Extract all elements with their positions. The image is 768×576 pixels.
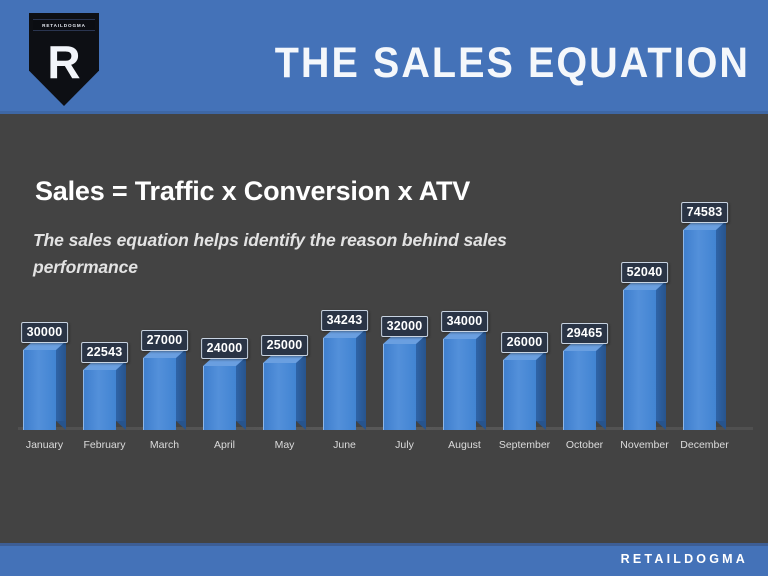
bar[interactable] bbox=[323, 329, 366, 430]
bar-side-face bbox=[296, 354, 306, 421]
bar-side-base bbox=[476, 421, 486, 430]
bar[interactable] bbox=[383, 335, 426, 430]
bar-front-face bbox=[383, 344, 416, 430]
bar-group: 74583 bbox=[683, 170, 726, 430]
bar-category-label: January bbox=[26, 439, 63, 451]
header-divider bbox=[0, 111, 768, 114]
bar[interactable] bbox=[83, 361, 126, 430]
bar-side-base bbox=[356, 421, 366, 430]
bar-side-base bbox=[236, 421, 246, 430]
bar-group: 25000 bbox=[263, 303, 306, 430]
bar[interactable] bbox=[683, 221, 726, 430]
bar-category-label: September bbox=[499, 439, 550, 451]
footer-divider bbox=[0, 543, 768, 546]
bar-side-base bbox=[656, 421, 666, 430]
bar-front-face bbox=[683, 230, 716, 430]
bar-side-base bbox=[56, 421, 66, 430]
bar-front-face bbox=[83, 370, 116, 430]
bar-category-label: April bbox=[214, 439, 235, 451]
bar-value-label: 30000 bbox=[21, 322, 69, 343]
bar-value-label: 32000 bbox=[381, 316, 429, 337]
bar-front-face bbox=[563, 351, 596, 430]
bar-category-label: February bbox=[83, 439, 125, 451]
category-slot: March bbox=[143, 430, 186, 465]
bar-side-base bbox=[116, 421, 126, 430]
bar-front-face bbox=[263, 363, 296, 430]
bar-side-face bbox=[476, 330, 486, 421]
category-slot: November bbox=[623, 430, 666, 465]
bar-group: 34243 bbox=[323, 278, 366, 430]
bar-side-face bbox=[536, 351, 546, 421]
bar-group: 22543 bbox=[83, 310, 126, 430]
retaildogma-logo: RETAILDOGMA R bbox=[29, 13, 99, 106]
bar-side-face bbox=[116, 361, 126, 421]
bar-front-face bbox=[323, 338, 356, 430]
bar[interactable] bbox=[563, 342, 606, 430]
bar-side-base bbox=[596, 421, 606, 430]
bar-value-label: 27000 bbox=[141, 330, 189, 351]
category-slot: December bbox=[683, 430, 726, 465]
bar-front-face bbox=[203, 366, 236, 430]
bar-side-face bbox=[656, 281, 666, 421]
bar[interactable] bbox=[263, 354, 306, 430]
bar-value-label: 34243 bbox=[321, 310, 369, 331]
bar-side-face bbox=[416, 335, 426, 421]
bar-category-label: May bbox=[275, 439, 295, 451]
bar-value-label: 74583 bbox=[681, 202, 729, 223]
bar[interactable] bbox=[23, 341, 66, 430]
category-slot: February bbox=[83, 430, 126, 465]
footer-brand: RETAILDOGMA bbox=[621, 552, 748, 566]
bar-front-face bbox=[143, 358, 176, 430]
bar-side-face bbox=[236, 357, 246, 421]
logo-banner: RETAILDOGMA bbox=[33, 19, 95, 31]
bar[interactable] bbox=[623, 281, 666, 430]
bar-front-face bbox=[23, 350, 56, 430]
bar-group: 32000 bbox=[383, 284, 426, 430]
bar-side-face bbox=[356, 329, 366, 421]
category-slot: September bbox=[503, 430, 546, 465]
bar-value-label: 29465 bbox=[561, 323, 609, 344]
bar-group: 24000 bbox=[203, 306, 246, 430]
bar-side-face bbox=[596, 342, 606, 421]
bar-side-base bbox=[416, 421, 426, 430]
category-slot: May bbox=[263, 430, 306, 465]
logo-monogram: R bbox=[29, 33, 99, 91]
bar-value-label: 24000 bbox=[201, 338, 249, 359]
category-slot: April bbox=[203, 430, 246, 465]
bar-front-face bbox=[503, 360, 536, 430]
bar-side-face bbox=[176, 349, 186, 421]
bar-category-label: December bbox=[680, 439, 728, 451]
bar-side-base bbox=[536, 421, 546, 430]
bar-group: 26000 bbox=[503, 300, 546, 430]
bar-side-face bbox=[716, 221, 726, 421]
bar-category-label: October bbox=[566, 439, 603, 451]
category-slot: June bbox=[323, 430, 366, 465]
bar-category-label: November bbox=[620, 439, 668, 451]
bar-value-label: 52040 bbox=[621, 262, 669, 283]
bar-group: 29465 bbox=[563, 291, 606, 430]
bar-side-base bbox=[716, 421, 726, 430]
bar-value-label: 25000 bbox=[261, 335, 309, 356]
category-slot: August bbox=[443, 430, 486, 465]
sales-bar-chart: 30000January22543February27000March24000… bbox=[0, 200, 768, 465]
category-slot: January bbox=[23, 430, 66, 465]
bar-category-label: August bbox=[448, 439, 481, 451]
bar-value-label: 26000 bbox=[501, 332, 549, 353]
bar-category-label: July bbox=[395, 439, 414, 451]
bar-side-base bbox=[176, 421, 186, 430]
logo-banner-text: RETAILDOGMA bbox=[42, 23, 86, 28]
bar[interactable] bbox=[203, 357, 246, 430]
bar-category-label: March bbox=[150, 439, 179, 451]
bar-group: 52040 bbox=[623, 230, 666, 430]
bar-front-face bbox=[623, 290, 656, 430]
bar-value-label: 34000 bbox=[441, 311, 489, 332]
bar-category-label: June bbox=[333, 439, 356, 451]
bar[interactable] bbox=[503, 351, 546, 430]
bar-side-face bbox=[56, 341, 66, 421]
bar-front-face bbox=[443, 339, 476, 430]
header-band: RETAILDOGMA R THE SALES EQUATION bbox=[0, 0, 768, 114]
bar-group: 30000 bbox=[23, 290, 66, 430]
page-title: THE SALES EQUATION bbox=[290, 34, 750, 92]
bar[interactable] bbox=[443, 330, 486, 430]
bar-value-label: 22543 bbox=[81, 342, 129, 363]
bar-group: 34000 bbox=[443, 279, 486, 430]
bar-group: 27000 bbox=[143, 298, 186, 430]
bar[interactable] bbox=[143, 349, 186, 430]
slide: RETAILDOGMA R THE SALES EQUATION Sales =… bbox=[0, 0, 768, 576]
bar-side-base bbox=[296, 421, 306, 430]
category-slot: October bbox=[563, 430, 606, 465]
category-slot: July bbox=[383, 430, 426, 465]
